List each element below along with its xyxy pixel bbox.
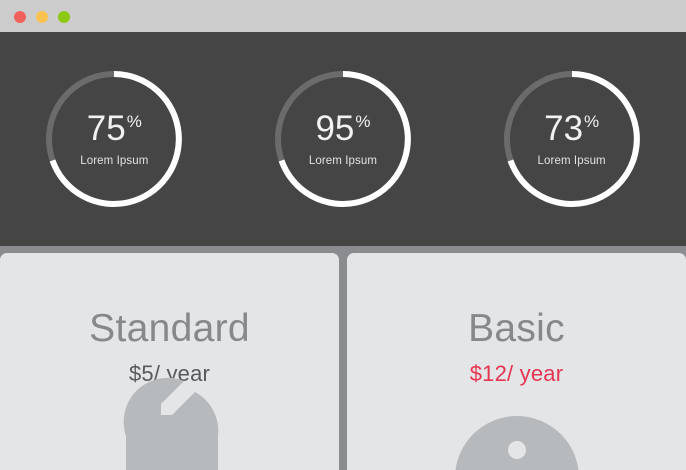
gauge-label: Lorem Ipsum: [80, 155, 148, 167]
titlebar: [0, 0, 686, 32]
gauge-value: 95 %: [315, 111, 370, 146]
stats-panel: 75 % Lorem Ipsum 95 % Lorem Ipsum: [0, 32, 686, 246]
gauge-label: Lorem Ipsum: [538, 155, 606, 167]
gauge-number: 95: [315, 111, 354, 146]
gauge-center: 73 % Lorem Ipsum: [499, 66, 645, 212]
section-divider: [0, 246, 686, 253]
gauge-value: 73 %: [544, 111, 599, 146]
plan-card-standard[interactable]: Standard $5/ year: [0, 253, 339, 470]
wrench-icon: [100, 374, 240, 470]
minimize-dot[interactable]: [36, 11, 48, 23]
traffic-lights: [14, 11, 70, 23]
percent-symbol: %: [584, 113, 599, 130]
maximize-dot[interactable]: [58, 11, 70, 23]
close-dot[interactable]: [14, 11, 26, 23]
gauge-chart[interactable]: 95 % Lorem Ipsum: [270, 66, 416, 212]
gauge-label: Lorem Ipsum: [309, 155, 377, 167]
gauge-chart[interactable]: 73 % Lorem Ipsum: [499, 66, 645, 212]
gauge-center: 95 % Lorem Ipsum: [270, 66, 416, 212]
pricing-section: Standard $5/ year Basic $12/ year: [0, 253, 686, 470]
gauge-group: 75 % Lorem Ipsum 95 % Lorem Ipsum: [0, 32, 686, 246]
gauge-value: 75 %: [87, 111, 142, 146]
app-window: 75 % Lorem Ipsum 95 % Lorem Ipsum: [0, 0, 686, 470]
plan-name: Standard: [0, 309, 339, 348]
gear-icon: [447, 374, 587, 470]
percent-symbol: %: [355, 113, 370, 130]
gauge-center: 75 % Lorem Ipsum: [41, 66, 187, 212]
gauge-chart[interactable]: 75 % Lorem Ipsum: [41, 66, 187, 212]
plan-name: Basic: [347, 309, 686, 348]
percent-symbol: %: [127, 113, 142, 130]
gauge-number: 75: [87, 111, 126, 146]
gauge-number: 73: [544, 111, 583, 146]
plan-card-basic[interactable]: Basic $12/ year: [347, 253, 686, 470]
